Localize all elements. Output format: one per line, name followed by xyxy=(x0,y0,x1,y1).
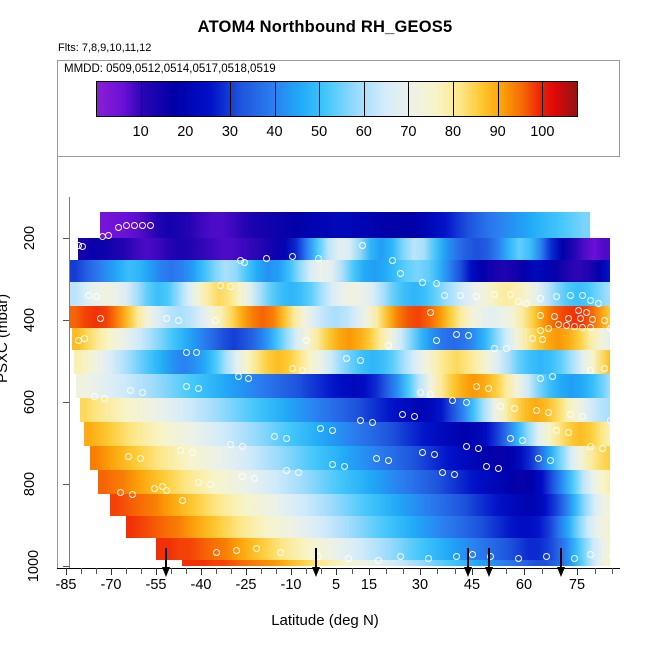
x-axis-tick-label: 60 xyxy=(516,577,532,593)
y-axis-tick-label: 200 xyxy=(22,226,38,250)
x-axis-tick-label: -55 xyxy=(146,577,167,593)
latitude-marker-arrow xyxy=(488,548,490,568)
y-axis-tick-label: 800 xyxy=(22,472,38,496)
x-axis-tick-label: 45 xyxy=(464,577,480,593)
x-axis-tick-label: -40 xyxy=(191,577,212,593)
x-axis-tick-label: 30 xyxy=(412,577,428,593)
x-axis-tick-label: 75 xyxy=(569,577,585,593)
latitude-marker-arrow xyxy=(165,548,167,568)
x-axis-tick-label: 5 xyxy=(332,577,340,593)
x-axis-tick-label: 15 xyxy=(361,577,377,593)
marker-arrows xyxy=(0,540,650,568)
y-axis-tick-label: 400 xyxy=(22,308,38,332)
plot-page: ATOM4 Northbound RH_GEOS5 Flts: 7,8,9,10… xyxy=(0,0,650,650)
y-axis-title: PSXC (mbar) xyxy=(0,294,11,383)
x-axis-labels: -85-70-55-40-25-1051530456075 xyxy=(0,568,650,608)
latitude-marker-arrow xyxy=(467,548,469,568)
y-axis-tick-label: 600 xyxy=(22,390,38,414)
x-axis-tick-label: -10 xyxy=(281,577,302,593)
x-axis-tick-label: -25 xyxy=(236,577,257,593)
latitude-marker-arrow xyxy=(315,548,317,568)
x-axis-title: Latitude (deg N) xyxy=(0,612,650,629)
x-axis-tick-label: -85 xyxy=(56,577,77,593)
latitude-marker-arrow xyxy=(560,548,562,568)
x-axis-tick-label: -70 xyxy=(101,577,122,593)
